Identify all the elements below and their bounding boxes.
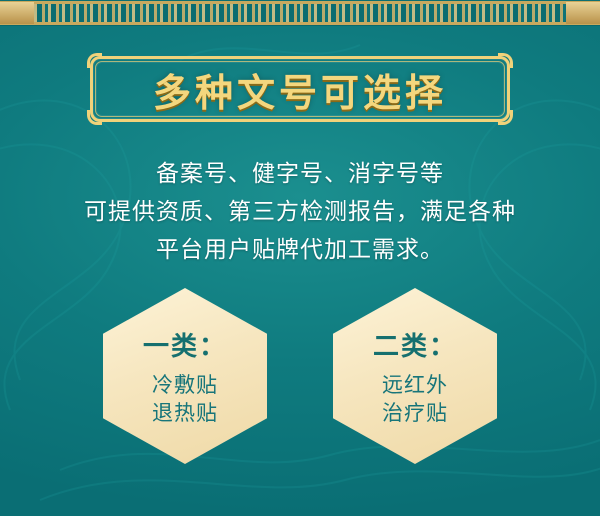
border-edge-bottom (0, 22, 600, 25)
title-plaque: 多种文号可选择 (90, 56, 510, 122)
border-pattern-band (0, 4, 600, 22)
category-1-heading: 一类： (143, 326, 227, 363)
poster-root: 多种文号可选择 备案号、健字号、消字号等 可提供资质、第三方检测报告，满足各种 … (0, 0, 600, 516)
description-line-2: 可提供资质、第三方检测报告，满足各种 (0, 193, 600, 231)
page-title: 多种文号可选择 (90, 56, 510, 122)
border-corner-right (566, 2, 600, 24)
description-line-1: 备案号、健字号、消字号等 (0, 155, 600, 193)
category-1-item-1: 冷敷贴 (152, 371, 218, 399)
ornamental-top-border (0, 0, 600, 26)
description-block: 备案号、健字号、消字号等 可提供资质、第三方检测报告，满足各种 平台用户贴牌代加… (0, 155, 600, 269)
category-2-items: 远红外 治疗贴 (382, 371, 448, 427)
category-hexagon-1: 一类： 冷敷贴 退热贴 (103, 288, 267, 464)
category-1-items: 冷敷贴 退热贴 (152, 371, 218, 427)
category-hexagon-group: 一类： 冷敷贴 退热贴 二类： 远红外 治疗贴 (0, 288, 600, 464)
category-hexagon-2: 二类： 远红外 治疗贴 (333, 288, 497, 464)
border-corner-left (0, 2, 34, 24)
description-line-3: 平台用户贴牌代加工需求。 (0, 231, 600, 269)
category-1-item-2: 退热贴 (152, 399, 218, 427)
category-2-item-1: 远红外 (382, 371, 448, 399)
category-2-item-2: 治疗贴 (382, 399, 448, 427)
category-2-heading: 二类： (373, 326, 457, 363)
